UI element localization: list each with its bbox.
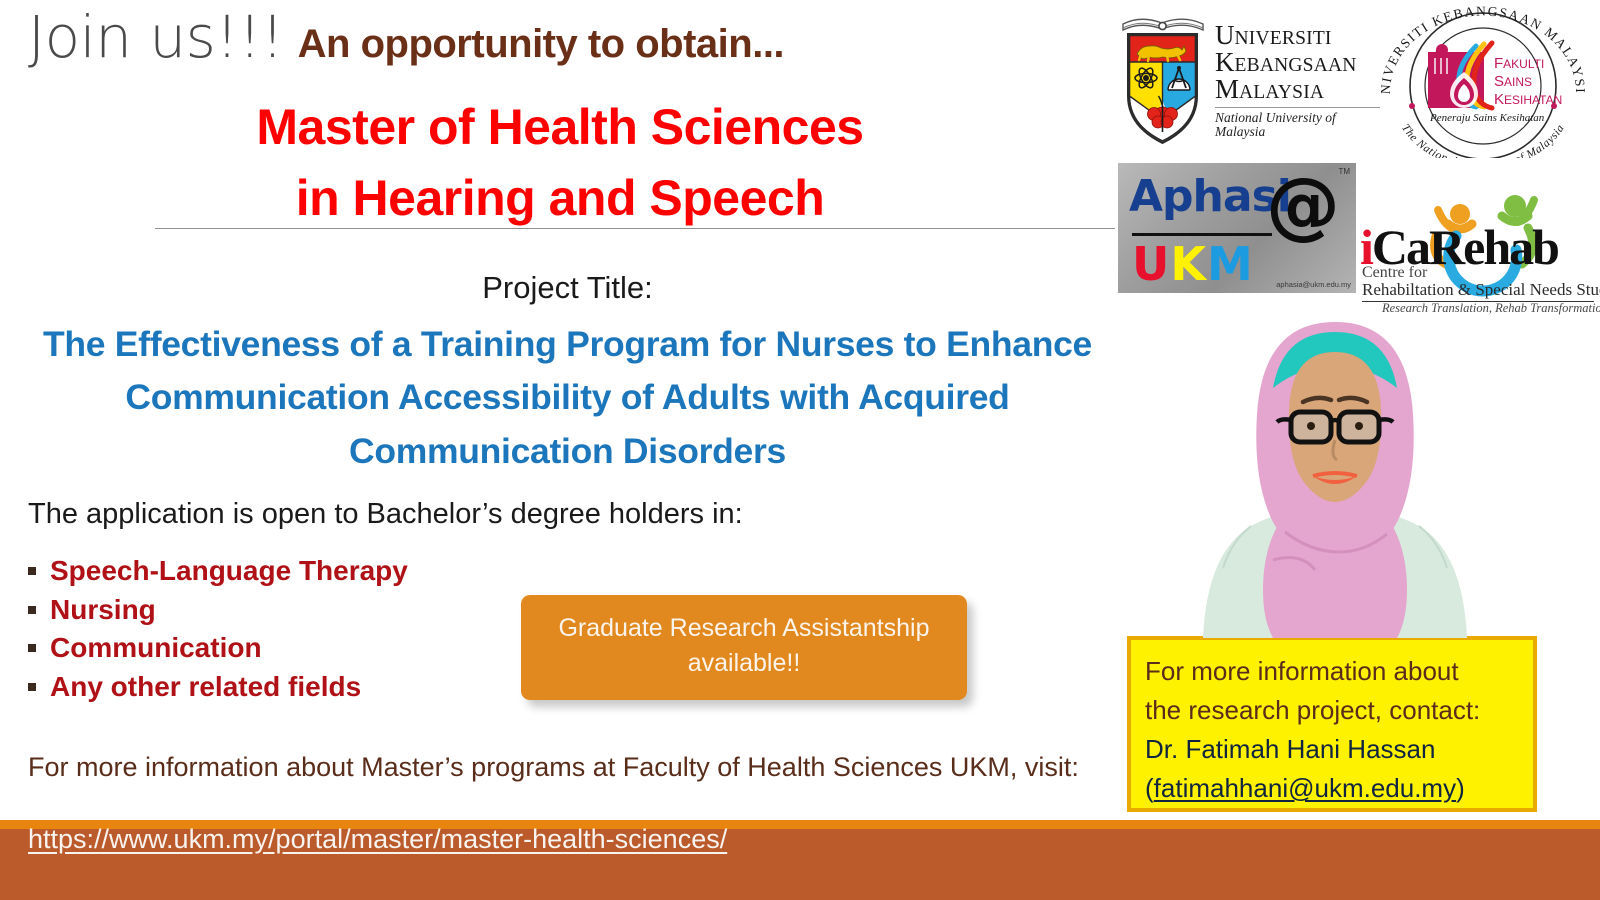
paren-close: ) bbox=[1456, 773, 1465, 803]
ukm-crest-icon bbox=[1117, 10, 1209, 150]
list-item-label: Speech-Language Therapy bbox=[50, 552, 408, 591]
program-title-line2: in Hearing and Speech bbox=[0, 163, 1120, 234]
fsk-line3: KESIHATAN bbox=[1494, 91, 1562, 108]
contact-email-row: (fatimahhani@ukm.edu.my) bbox=[1145, 769, 1519, 808]
bullet-square-icon bbox=[28, 567, 36, 575]
eligibility-list: Speech-Language Therapy Nursing Communic… bbox=[28, 552, 408, 707]
ukm-u: U bbox=[1215, 22, 1235, 49]
fsk-line1: FAKULTI bbox=[1494, 55, 1544, 72]
aphasia-k: K bbox=[1170, 237, 1207, 291]
fsk-tagline: Peneraju Sains Kesihatan bbox=[1429, 112, 1545, 124]
program-title: Master of Health Sciences in Hearing and… bbox=[0, 92, 1120, 234]
poster-slide: Join us!!! An opportunity to obtain... M… bbox=[0, 0, 1600, 900]
ukm-wordmark-rule bbox=[1215, 107, 1380, 108]
contact-name: Dr. Fatimah Hani Hassan bbox=[1145, 730, 1519, 769]
aphasia-m: M bbox=[1207, 237, 1254, 291]
footer-paragraph: For more information about Master’s prog… bbox=[28, 748, 1088, 786]
join-us-heading: Join us!!! bbox=[28, 8, 284, 66]
contact-email-link[interactable]: fatimahhani@ukm.edu.my bbox=[1154, 773, 1456, 803]
contact-box: For more information about the research … bbox=[1127, 636, 1537, 812]
ukm-universiti: NIVERSITI bbox=[1235, 29, 1332, 49]
project-title-label: Project Title: bbox=[0, 270, 1135, 306]
list-item-label: Any other related fields bbox=[50, 668, 361, 707]
list-item: Any other related fields bbox=[28, 668, 408, 707]
svg-text:The National University of Mal: The National University of Malaysia bbox=[1399, 122, 1567, 158]
list-item-label: Nursing bbox=[50, 591, 156, 630]
researcher-portrait bbox=[1185, 308, 1485, 638]
icarehab-logo: iCaRehab Centre for Rehabiltation & Spec… bbox=[1352, 180, 1598, 310]
list-item: Communication bbox=[28, 629, 408, 668]
ukm-tagline: National University of Malaysia bbox=[1215, 111, 1380, 138]
aphasia-ukm-logo: TM Aphasi @ UKM aphasia@ukm.edu.my bbox=[1118, 163, 1356, 293]
at-symbol-icon: @ bbox=[1266, 171, 1340, 239]
ukm-kebangsaan: EBANGSAAN bbox=[1235, 56, 1357, 76]
aphasia-u: U bbox=[1132, 237, 1170, 291]
paren-open: ( bbox=[1145, 773, 1154, 803]
list-item: Speech-Language Therapy bbox=[28, 552, 408, 591]
program-url-link[interactable]: https://www.ukm.my/portal/master/master-… bbox=[28, 824, 727, 855]
callout-line2: available!! bbox=[688, 649, 801, 677]
contact-line2: the research project, contact: bbox=[1145, 691, 1519, 730]
list-item-label: Communication bbox=[50, 629, 262, 668]
bullet-square-icon bbox=[28, 683, 36, 691]
opportunity-heading: An opportunity to obtain... bbox=[298, 24, 784, 64]
program-title-line1: Master of Health Sciences bbox=[256, 99, 863, 155]
ukm-logo: UNIVERSITI KEBANGSAAN MALAYSIA National … bbox=[1117, 6, 1380, 154]
ukm-m: M bbox=[1215, 76, 1239, 103]
aphasia-ukm-word: UKM bbox=[1132, 237, 1254, 291]
faculty-health-sciences-logo: UNIVERSITI KEBANGSAAN MALAYSIA The Natio… bbox=[1372, 6, 1594, 158]
ukm-k: K bbox=[1215, 49, 1235, 76]
bullet-square-icon bbox=[28, 606, 36, 614]
callout-line1: Graduate Research Assistantship bbox=[558, 614, 929, 642]
trademark-symbol: TM bbox=[1338, 167, 1350, 176]
contact-line1: For more information about bbox=[1145, 652, 1519, 691]
aphasia-email: aphasia@ukm.edu.my bbox=[1276, 280, 1351, 289]
assistantship-callout: Graduate Research Assistantship availabl… bbox=[521, 595, 967, 700]
ukm-wordmark: UNIVERSITI KEBANGSAAN MALAYSIA National … bbox=[1215, 22, 1380, 138]
eligibility-intro: The application is open to Bachelor’s de… bbox=[28, 498, 743, 531]
project-title-text: The Effectiveness of a Training Program … bbox=[20, 318, 1115, 478]
bullet-square-icon bbox=[28, 644, 36, 652]
aphasia-divider bbox=[1132, 233, 1272, 236]
fsk-line2: SAINS bbox=[1494, 73, 1532, 90]
horizontal-divider bbox=[155, 228, 1115, 229]
icarehab-sub2: Rehabiltation & Special Needs Studies bbox=[1362, 280, 1600, 300]
header-row: Join us!!! An opportunity to obtain... bbox=[28, 8, 784, 66]
list-item: Nursing bbox=[28, 591, 408, 630]
ukm-malaysia: ALAYSIA bbox=[1239, 83, 1324, 103]
fsk-arc-bottom: The National University of Malaysia bbox=[1399, 122, 1567, 158]
